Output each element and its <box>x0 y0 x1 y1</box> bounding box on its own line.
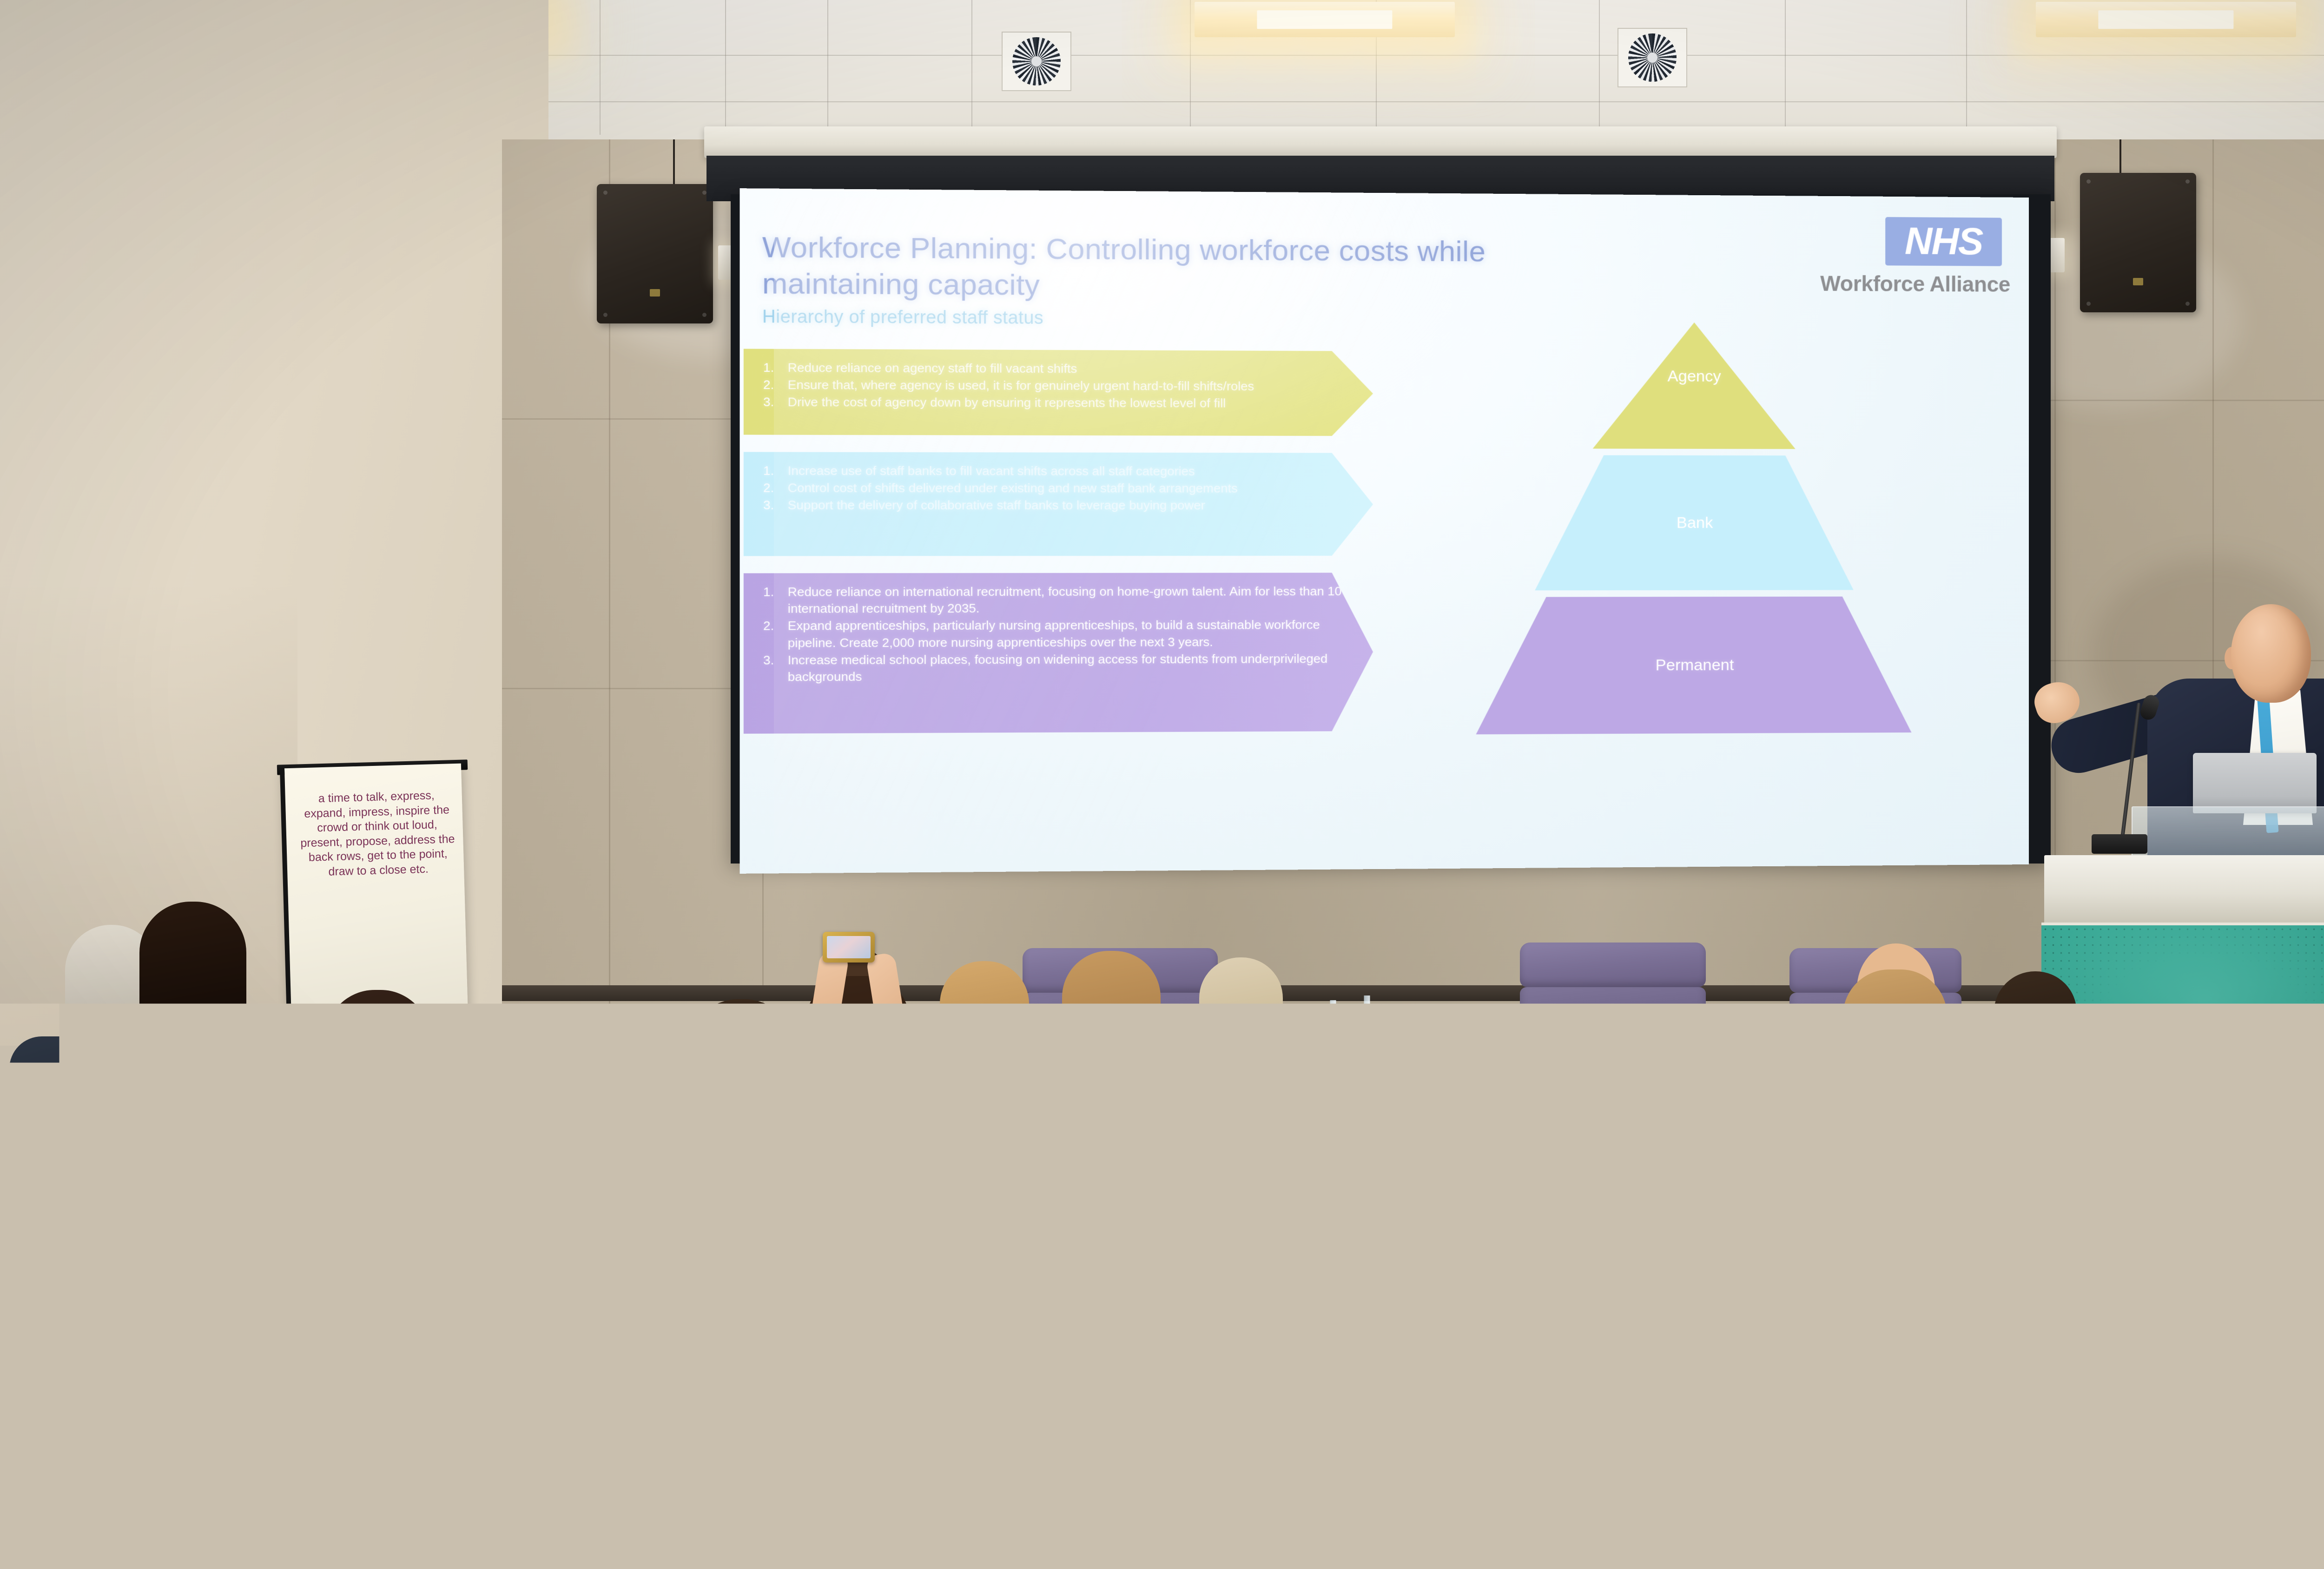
lanyard <box>51 1464 121 1478</box>
chevron-bank: Increase use of staff banks to fill vaca… <box>744 452 1373 556</box>
audience-hair <box>725 1246 878 1569</box>
audience-headscarf <box>558 1227 720 1569</box>
audience-shoulders <box>316 1404 548 1569</box>
lanyard <box>1673 1190 1729 1201</box>
audience-head <box>19 1283 158 1436</box>
bank-point: Increase use of staff banks to fill vaca… <box>760 462 1359 480</box>
audience-hair <box>139 902 246 1041</box>
projector-screen-housing <box>704 126 2057 158</box>
ceiling-tile-seam <box>827 0 828 142</box>
wall-speaker-left <box>597 184 713 323</box>
agency-point: Drive the cost of agency down by ensurin… <box>760 394 1359 412</box>
pyramid-label-bank: Bank <box>1677 514 1713 532</box>
lectern-top <box>2044 855 2324 925</box>
permanent-point: Reduce reliance on international recruit… <box>760 583 1359 618</box>
projected-slide: Workforce Planning: Controlling workforc… <box>739 188 2029 874</box>
agency-point: Reduce reliance on agency staff to fill … <box>760 359 1359 378</box>
wall-speaker-right <box>2080 173 2196 312</box>
pyramid-tier-permanent: Permanent <box>1476 596 1912 734</box>
audience-head <box>381 1171 493 1283</box>
pyramid-label-agency: Agency <box>1668 367 1721 386</box>
audience-hair <box>1720 1334 1878 1569</box>
conference-room-photo: Workforce Planning: Controlling workforc… <box>0 0 2324 1569</box>
bank-point: Support the delivery of collaborative st… <box>760 497 1359 514</box>
ceiling-tile-seam <box>1599 0 1600 142</box>
ceiling-vent-icon <box>1618 28 1687 87</box>
ceiling-tile-seam <box>600 0 601 135</box>
microphone-base <box>2092 834 2147 854</box>
ceiling-tile-seam <box>1966 0 1967 142</box>
ceiling-tile-seam <box>1190 0 1191 142</box>
pyramid-tier-bank: Bank <box>1535 455 1853 590</box>
ceiling-tile-seam <box>725 0 726 142</box>
permanent-point: Increase medical school places, focusing… <box>760 651 1359 686</box>
audience-shoulders <box>2119 1459 2324 1569</box>
ceiling-vent-icon <box>1002 32 1071 91</box>
slide-title: Workforce Planning: Controlling workforc… <box>762 230 1515 305</box>
audience-hair <box>897 1264 1050 1569</box>
lectern-glass-panel <box>2132 806 2324 858</box>
presenter-laptop <box>2193 753 2317 813</box>
pyramid-tier-agency: Agency <box>1593 322 1796 449</box>
audience-shoulders <box>9 1036 195 1194</box>
lanyard <box>1999 1213 2059 1225</box>
bank-point: Control cost of shifts delivered under e… <box>760 480 1359 497</box>
smartphone[interactable] <box>823 932 875 962</box>
lanyard <box>1571 1464 1645 1478</box>
ceiling-tile-seam <box>971 0 972 142</box>
flipchart-text: a time to talk, express, expand, impress… <box>296 788 458 880</box>
permanent-point: Expand apprenticeships, particularly nur… <box>760 617 1359 652</box>
agency-point: Ensure that, where agency is used, it is… <box>760 376 1359 395</box>
ceiling-tile-seam <box>1785 0 1786 142</box>
table-puck <box>1315 1073 1331 1088</box>
pyramid-label-permanent: Permanent <box>1656 656 1734 674</box>
audience-hair <box>688 999 795 1180</box>
presenter-head <box>2231 604 2311 703</box>
audience-hair <box>1062 951 1161 1146</box>
chevron-permanent: Reduce reliance on international recruit… <box>744 573 1373 733</box>
audience-chair[interactable] <box>1301 1301 1520 1569</box>
audience-shoulders <box>1762 1180 1961 1357</box>
ceiling-light <box>1195 2 1455 37</box>
nhs-logo-wordmark: Workforce Alliance <box>1820 271 2010 297</box>
ceiling-light <box>2036 2 2296 37</box>
audience-shoulders <box>1501 1469 1752 1569</box>
audience-shoulders <box>1037 1469 1297 1569</box>
slide-subtitle: Hierarchy of preferred staff status <box>762 307 1043 329</box>
nhs-logo-mark: NHS <box>1885 217 2002 266</box>
chevron-agency: Reduce reliance on agency staff to fill … <box>744 349 1373 436</box>
